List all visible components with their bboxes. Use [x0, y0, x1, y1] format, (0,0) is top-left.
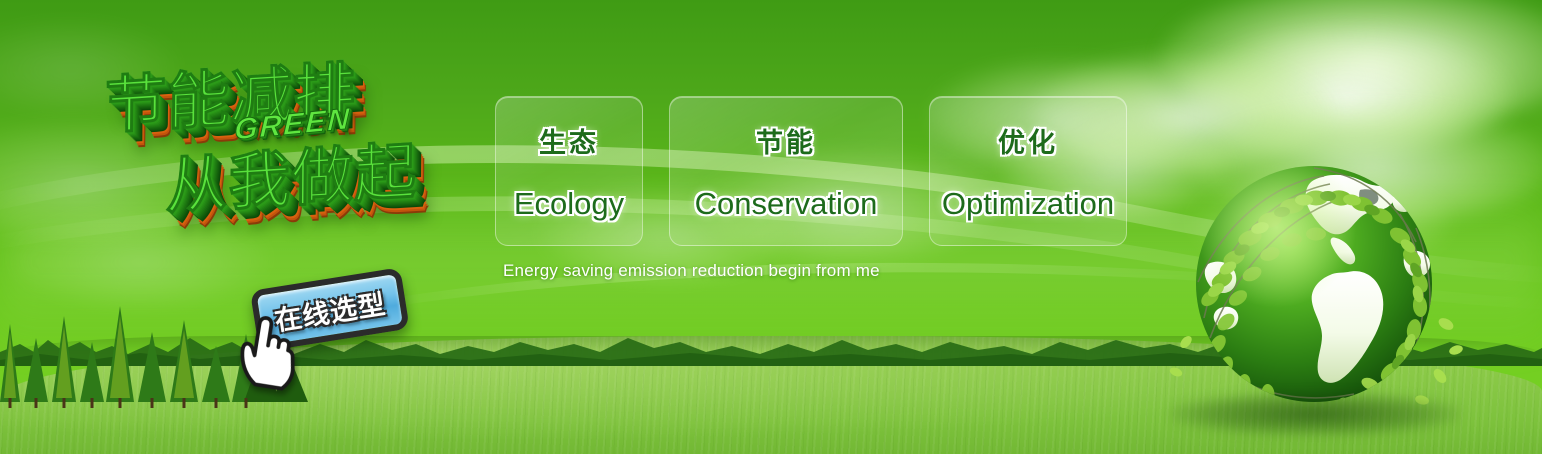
green-energy-banner: 节能减排 GREEN 从我做起 在线选型 生态 Ecology 节能 Conse…: [0, 0, 1542, 454]
feature-card-cn-label: 生态: [539, 121, 599, 160]
hero-title-line2: 从我做起: [165, 120, 417, 226]
feature-card-cn-label: 节能: [756, 121, 816, 160]
feature-card-ecology[interactable]: 生态 Ecology: [495, 96, 643, 246]
leafy-earth-globe-icon: [1164, 132, 1464, 432]
feature-card-en-label: Ecology: [514, 186, 624, 222]
hero-title-artwork: 节能减排 GREEN 从我做起: [97, 25, 490, 278]
feature-card-en-label: Optimization: [942, 186, 1114, 222]
globe-ground-shadow: [1170, 392, 1460, 436]
feature-cards: 生态 Ecology 节能 Conservation 优化 Optimizati…: [495, 96, 1127, 246]
banner-tagline: Energy saving emission reduction begin f…: [503, 261, 880, 281]
feature-card-en-label: Conservation: [695, 186, 878, 222]
feature-card-optimization[interactable]: 优化 Optimization: [929, 96, 1127, 246]
pointing-hand-cursor-icon: [232, 311, 313, 395]
feature-card-cn-label: 优化: [998, 121, 1058, 160]
feature-card-conservation[interactable]: 节能 Conservation: [669, 96, 903, 246]
